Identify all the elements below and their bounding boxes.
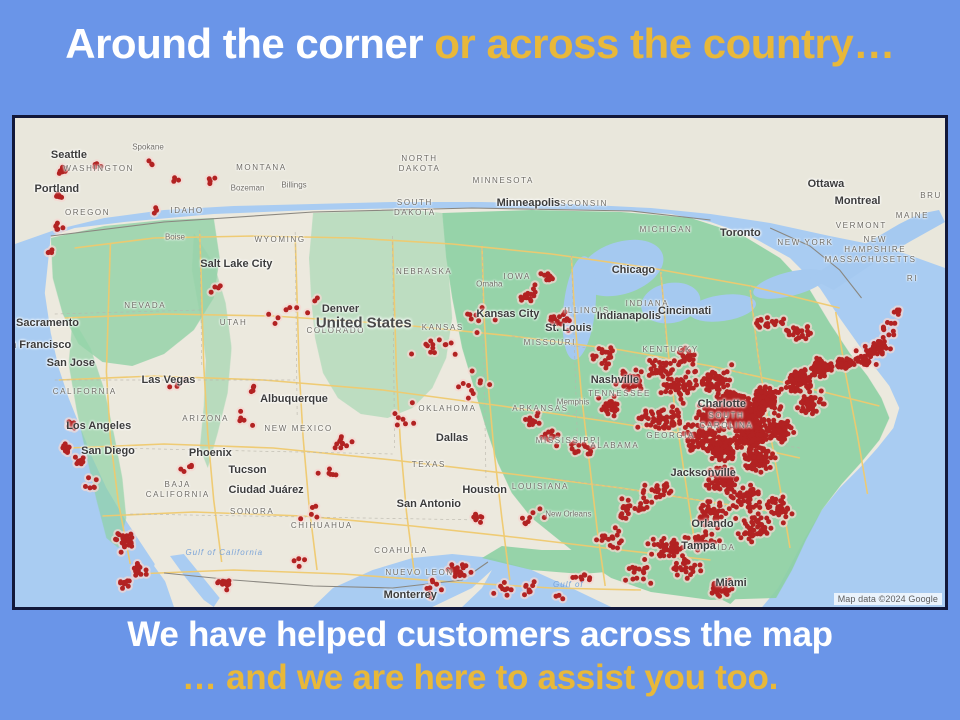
customer-location-marker	[641, 577, 646, 582]
customer-location-marker	[819, 389, 824, 394]
customer-location-marker	[713, 516, 718, 521]
customer-location-marker	[339, 434, 344, 439]
customer-location-marker	[709, 538, 714, 543]
customer-location-marker	[425, 343, 430, 348]
customer-location-marker	[681, 431, 686, 436]
customer-location-marker	[779, 499, 784, 504]
footer-text: We have helped customers across the map …	[0, 614, 960, 699]
customer-location-marker	[503, 587, 508, 592]
customer-location-marker	[670, 423, 675, 428]
customer-location-marker	[487, 382, 492, 387]
customer-location-marker	[720, 381, 725, 386]
customer-location-marker	[688, 566, 693, 571]
customer-location-marker	[649, 500, 654, 505]
customer-location-marker	[607, 352, 612, 357]
customer-location-marker	[701, 543, 706, 548]
customer-location-marker	[677, 350, 682, 355]
customer-location-marker	[773, 455, 778, 460]
customer-location-marker	[223, 582, 228, 587]
customer-location-marker	[769, 510, 774, 515]
customer-location-marker	[719, 448, 724, 453]
customer-location-marker	[785, 507, 790, 512]
customer-location-marker	[119, 550, 124, 555]
customer-location-marker	[559, 322, 564, 327]
customer-location-marker	[561, 312, 566, 317]
customer-location-marker	[453, 352, 458, 357]
customer-location-marker	[714, 466, 719, 471]
customer-location-marker	[427, 591, 432, 596]
customer-location-marker	[707, 427, 712, 432]
customer-location-marker	[474, 516, 479, 521]
customer-location-marker	[795, 405, 800, 410]
customer-location-marker	[725, 383, 730, 388]
customer-location-marker	[46, 250, 51, 255]
customer-location-marker	[843, 365, 848, 370]
customer-location-marker	[805, 377, 810, 382]
customer-location-marker	[661, 425, 666, 430]
customer-location-marker	[757, 395, 762, 400]
customer-location-marker	[686, 349, 691, 354]
customer-location-marker	[659, 368, 664, 373]
customer-location-marker	[604, 408, 609, 413]
customer-location-marker	[524, 583, 529, 588]
customer-location-marker	[778, 504, 783, 509]
customer-location-marker	[791, 430, 796, 435]
customer-location-marker	[734, 505, 739, 510]
customer-location-marker	[675, 377, 680, 382]
customer-location-marker	[522, 592, 527, 597]
customer-location-marker	[700, 379, 705, 384]
customer-location-marker	[658, 414, 663, 419]
customer-location-marker	[813, 368, 818, 373]
customer-location-marker	[172, 175, 177, 180]
customer-location-marker	[641, 490, 646, 495]
customer-location-marker	[476, 318, 481, 323]
customer-location-marker	[799, 400, 804, 405]
customer-location-marker	[807, 406, 812, 411]
customer-location-marker	[794, 374, 799, 379]
customer-location-marker	[749, 505, 754, 510]
customer-location-marker	[724, 449, 729, 454]
customer-location-marker	[144, 568, 149, 573]
customer-location-marker	[705, 499, 710, 504]
customer-location-marker	[521, 295, 526, 300]
customer-location-marker	[806, 332, 811, 337]
customer-location-marker	[537, 506, 542, 511]
customer-location-marker	[765, 315, 770, 320]
customer-location-marker	[557, 593, 562, 598]
customer-location-marker	[411, 421, 416, 426]
customer-location-marker	[710, 456, 715, 461]
customer-location-marker	[549, 315, 554, 320]
customer-location-marker	[703, 532, 708, 537]
customer-location-marker	[136, 565, 141, 570]
customer-location-marker	[623, 516, 628, 521]
customer-location-marker	[669, 409, 674, 414]
customer-location-marker	[731, 397, 736, 402]
customer-location-marker	[781, 520, 786, 525]
customer-location-marker	[739, 445, 744, 450]
customer-location-marker	[456, 384, 461, 389]
customer-location-marker	[635, 425, 640, 430]
customer-location-marker	[710, 480, 715, 485]
customer-location-marker	[707, 388, 712, 393]
customer-location-marker	[727, 506, 732, 511]
customer-location-marker	[661, 407, 666, 412]
customer-location-marker	[669, 377, 674, 382]
map-container[interactable]: WASHINGTONMONTANANORTH DAKOTAMINNESOTAOR…	[12, 115, 948, 610]
customer-location-marker	[655, 542, 660, 547]
customer-location-marker	[757, 325, 762, 330]
customer-location-marker	[688, 357, 693, 362]
customer-location-marker	[724, 438, 729, 443]
customer-location-marker	[659, 390, 664, 395]
customer-location-marker	[710, 370, 715, 375]
customer-location-marker	[765, 428, 770, 433]
customer-location-marker	[250, 388, 255, 393]
customer-location-marker	[612, 394, 617, 399]
country-label: United States	[316, 315, 412, 332]
customer-location-marker	[315, 296, 320, 301]
customer-location-marker	[690, 447, 695, 452]
customer-location-marker	[881, 327, 886, 332]
customer-location-marker	[760, 448, 765, 453]
customer-location-marker	[715, 525, 720, 530]
customer-location-marker	[695, 423, 700, 428]
customer-location-marker	[587, 577, 592, 582]
customer-location-marker	[754, 503, 759, 508]
customer-location-marker	[830, 364, 835, 369]
customer-location-marker	[707, 486, 712, 491]
customer-location-marker	[639, 369, 644, 374]
customer-location-marker	[403, 421, 408, 426]
customer-location-marker	[712, 507, 717, 512]
customer-location-marker	[73, 455, 78, 460]
customer-location-marker	[716, 427, 721, 432]
customer-location-marker	[712, 589, 717, 594]
customer-location-marker	[633, 384, 638, 389]
customer-location-marker	[698, 568, 703, 573]
customer-location-marker	[780, 439, 785, 444]
customer-location-marker	[768, 455, 773, 460]
customer-location-marker	[646, 416, 651, 421]
customer-location-marker	[762, 525, 767, 530]
customer-location-marker	[316, 471, 321, 476]
customer-location-marker	[757, 421, 762, 426]
customer-location-marker	[594, 537, 599, 542]
customer-location-marker	[714, 382, 719, 387]
customer-location-marker	[722, 404, 727, 409]
customer-location-marker	[65, 449, 70, 454]
customer-location-marker	[626, 511, 631, 516]
customer-location-marker	[781, 317, 786, 322]
customer-location-marker	[608, 345, 613, 350]
customer-location-marker	[716, 401, 721, 406]
customer-location-marker	[733, 516, 738, 521]
customer-location-marker	[891, 329, 896, 334]
customer-location-marker	[619, 513, 624, 518]
customer-location-marker	[664, 415, 669, 420]
customer-location-marker	[897, 308, 902, 313]
customer-location-marker	[766, 505, 771, 510]
customer-location-marker	[733, 428, 738, 433]
customer-location-marker	[600, 350, 605, 355]
customer-location-marker	[613, 525, 618, 530]
customer-location-marker	[287, 305, 292, 310]
customer-location-marker	[565, 317, 570, 322]
customer-location-marker	[809, 398, 814, 403]
customer-location-marker	[542, 515, 547, 520]
customer-location-marker	[734, 441, 739, 446]
customer-location-marker	[727, 480, 732, 485]
customer-location-marker	[721, 371, 726, 376]
customer-location-marker	[874, 362, 879, 367]
customer-location-marker	[686, 370, 691, 375]
customer-location-marker	[439, 587, 444, 592]
customer-location-marker	[768, 400, 773, 405]
customer-location-marker	[251, 384, 256, 389]
customer-location-marker	[721, 483, 726, 488]
customer-location-marker	[663, 389, 668, 394]
customer-location-marker	[491, 591, 496, 596]
customer-location-marker	[650, 412, 655, 417]
customer-location-marker	[647, 373, 652, 378]
customer-location-marker	[350, 439, 355, 444]
customer-location-marker	[755, 432, 760, 437]
customer-location-marker	[566, 328, 571, 333]
customer-location-marker	[692, 563, 697, 568]
customer-location-marker	[859, 360, 864, 365]
headline-part-gold: or across the country…	[434, 20, 894, 67]
customer-location-marker	[610, 534, 615, 539]
customer-location-marker	[310, 505, 315, 510]
customer-location-marker	[520, 516, 525, 521]
customer-location-marker	[818, 397, 823, 402]
customer-location-marker	[302, 557, 307, 562]
customer-location-marker	[54, 227, 59, 232]
customer-location-marker	[707, 509, 712, 514]
customer-location-marker	[622, 373, 627, 378]
customer-location-marker	[729, 467, 734, 472]
customer-location-marker	[603, 366, 608, 371]
customer-location-marker	[636, 377, 641, 382]
customer-location-marker	[461, 565, 466, 570]
customer-location-marker	[468, 570, 473, 575]
customer-location-marker	[681, 353, 686, 358]
customer-location-marker	[712, 486, 717, 491]
customer-location-marker	[681, 401, 686, 406]
customer-location-marker	[778, 404, 783, 409]
customer-location-marker	[876, 342, 881, 347]
customer-location-marker	[859, 354, 864, 359]
customer-location-marker	[530, 583, 535, 588]
customer-location-marker	[392, 411, 397, 416]
customer-location-marker	[727, 425, 732, 430]
customer-location-marker	[773, 389, 778, 394]
customer-location-marker	[691, 386, 696, 391]
customer-location-marker	[871, 341, 876, 346]
customer-location-marker	[776, 512, 781, 517]
customer-location-marker	[757, 455, 762, 460]
customer-location-marker	[292, 558, 297, 563]
customer-location-marker	[619, 538, 624, 543]
customer-location-marker	[750, 433, 755, 438]
customer-location-marker	[643, 408, 648, 413]
customer-location-marker	[175, 381, 180, 386]
customer-location-marker	[709, 532, 714, 537]
customer-location-marker	[848, 363, 853, 368]
customer-location-marker	[676, 382, 681, 387]
customer-location-marker	[714, 422, 719, 427]
customer-location-marker	[326, 471, 331, 476]
customer-location-marker	[694, 433, 699, 438]
customer-location-marker	[554, 443, 559, 448]
customer-location-marker	[619, 496, 624, 501]
customer-location-marker	[708, 472, 713, 477]
customer-location-marker	[182, 469, 187, 474]
customer-location-marker	[711, 450, 716, 455]
customer-location-marker	[642, 557, 647, 562]
customer-location-marker	[814, 409, 819, 414]
customer-location-marker	[844, 356, 849, 361]
customer-location-marker	[700, 441, 705, 446]
customer-location-marker	[309, 512, 314, 517]
customer-location-marker	[758, 470, 763, 475]
customer-location-marker	[807, 389, 812, 394]
customer-location-marker	[754, 402, 759, 407]
customer-location-marker	[663, 545, 668, 550]
customer-location-marker	[761, 419, 766, 424]
customer-location-marker	[443, 342, 448, 347]
customer-location-marker	[83, 484, 88, 489]
customer-location-marker	[613, 382, 618, 387]
customer-location-marker	[692, 369, 697, 374]
customer-location-marker	[648, 581, 653, 586]
customer-location-marker	[122, 580, 127, 585]
customer-location-marker	[732, 411, 737, 416]
customer-location-marker	[120, 536, 125, 541]
customer-location-marker	[700, 416, 705, 421]
customer-location-marker	[668, 390, 673, 395]
customer-location-marker	[741, 499, 746, 504]
customer-location-marker	[790, 511, 795, 516]
footer-line-2: … and we are here to assist you too.	[0, 657, 960, 700]
customer-locations-map[interactable]	[15, 118, 945, 607]
customer-location-marker	[800, 333, 805, 338]
customer-location-marker	[685, 437, 690, 442]
customer-location-marker	[573, 575, 578, 580]
customer-location-marker	[748, 497, 753, 502]
customer-location-marker	[333, 445, 338, 450]
customer-location-marker	[395, 423, 400, 428]
customer-location-marker	[92, 165, 97, 170]
customer-location-marker	[600, 534, 605, 539]
customer-location-marker	[756, 426, 761, 431]
customer-location-marker	[99, 164, 104, 169]
customer-location-marker	[65, 445, 70, 450]
customer-location-marker	[699, 424, 704, 429]
customer-location-marker	[470, 369, 475, 374]
customer-location-marker	[677, 547, 682, 552]
customer-location-marker	[551, 434, 556, 439]
customer-location-marker	[696, 441, 701, 446]
customer-location-marker	[715, 592, 720, 597]
customer-location-marker	[338, 445, 343, 450]
customer-location-marker	[704, 438, 709, 443]
customer-location-marker	[297, 564, 302, 569]
customer-location-marker	[738, 412, 743, 417]
customer-location-marker	[780, 321, 785, 326]
customer-location-marker	[250, 423, 255, 428]
customer-location-marker	[772, 411, 777, 416]
customer-location-marker	[718, 503, 723, 508]
customer-location-marker	[623, 578, 628, 583]
customer-location-marker	[224, 587, 229, 592]
customer-location-marker	[706, 522, 711, 527]
customer-location-marker	[705, 420, 710, 425]
customer-location-marker	[882, 339, 887, 344]
customer-location-marker	[697, 563, 702, 568]
customer-location-marker	[298, 516, 303, 521]
customer-location-marker	[144, 572, 149, 577]
customer-location-marker	[681, 385, 686, 390]
customer-location-marker	[723, 591, 728, 596]
customer-location-marker	[643, 499, 648, 504]
customer-location-marker	[630, 565, 635, 570]
customer-location-marker	[94, 477, 99, 482]
customer-location-marker	[498, 584, 503, 589]
customer-location-marker	[818, 374, 823, 379]
customer-location-marker	[690, 432, 695, 437]
customer-location-marker	[748, 492, 753, 497]
customer-location-marker	[150, 162, 155, 167]
customer-location-marker	[668, 549, 673, 554]
customer-location-marker	[209, 290, 214, 295]
customer-location-marker	[814, 362, 819, 367]
customer-location-marker	[493, 317, 498, 322]
customer-location-marker	[657, 418, 662, 423]
customer-location-marker	[752, 460, 757, 465]
customer-location-marker	[764, 433, 769, 438]
customer-location-marker	[676, 410, 681, 415]
customer-location-marker	[92, 485, 97, 490]
customer-location-marker	[742, 518, 747, 523]
customer-location-marker	[773, 500, 778, 505]
customer-location-marker	[78, 458, 83, 463]
customer-location-marker	[207, 176, 212, 181]
customer-location-marker	[238, 409, 243, 414]
customer-location-marker	[634, 576, 639, 581]
customer-location-marker	[767, 422, 772, 427]
customer-location-marker	[689, 543, 694, 548]
customer-location-marker	[475, 330, 480, 335]
customer-location-marker	[759, 388, 764, 393]
customer-location-marker	[805, 325, 810, 330]
customer-location-marker	[466, 383, 471, 388]
customer-location-marker	[690, 362, 695, 367]
customer-location-marker	[471, 391, 476, 396]
customer-location-marker	[763, 384, 768, 389]
customer-location-marker	[691, 422, 696, 427]
customer-location-marker	[597, 346, 602, 351]
customer-location-marker	[742, 531, 747, 536]
customer-location-marker	[683, 375, 688, 380]
customer-location-marker	[675, 573, 680, 578]
customer-location-marker	[754, 518, 759, 523]
customer-location-marker	[806, 384, 811, 389]
customer-location-marker	[705, 448, 710, 453]
customer-location-marker	[480, 305, 485, 310]
